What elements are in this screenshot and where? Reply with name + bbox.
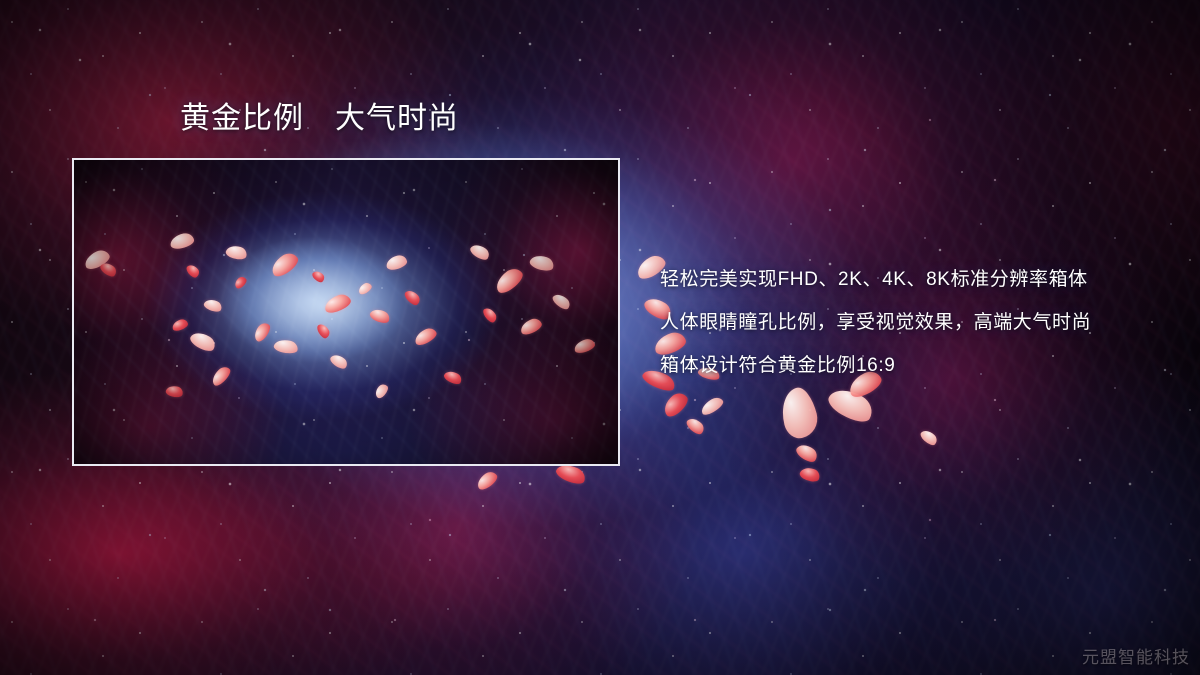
framed-image-panel	[72, 158, 620, 466]
page-title: 黄金比例 大气时尚	[180, 101, 459, 137]
panel-vignette	[74, 160, 618, 464]
body-line-3: 箱体设计符合黄金比例16:9	[660, 344, 1180, 387]
body-text-block: 轻松完美实现FHD、2K、4K、8K标准分辨率箱体 人体眼睛瞳孔比例，享受视觉效…	[660, 258, 1180, 387]
slide-canvas: 黄金比例 大气时尚 轻松完美实现FHD、2K、4K、8K标准分辨率箱体 人体眼睛…	[0, 0, 1200, 675]
watermark: 元盟智能科技	[1082, 643, 1190, 668]
body-line-1: 轻松完美实现FHD、2K、4K、8K标准分辨率箱体	[660, 258, 1180, 301]
body-line-2: 人体眼睛瞳孔比例，享受视觉效果，高端大气时尚	[660, 301, 1180, 344]
